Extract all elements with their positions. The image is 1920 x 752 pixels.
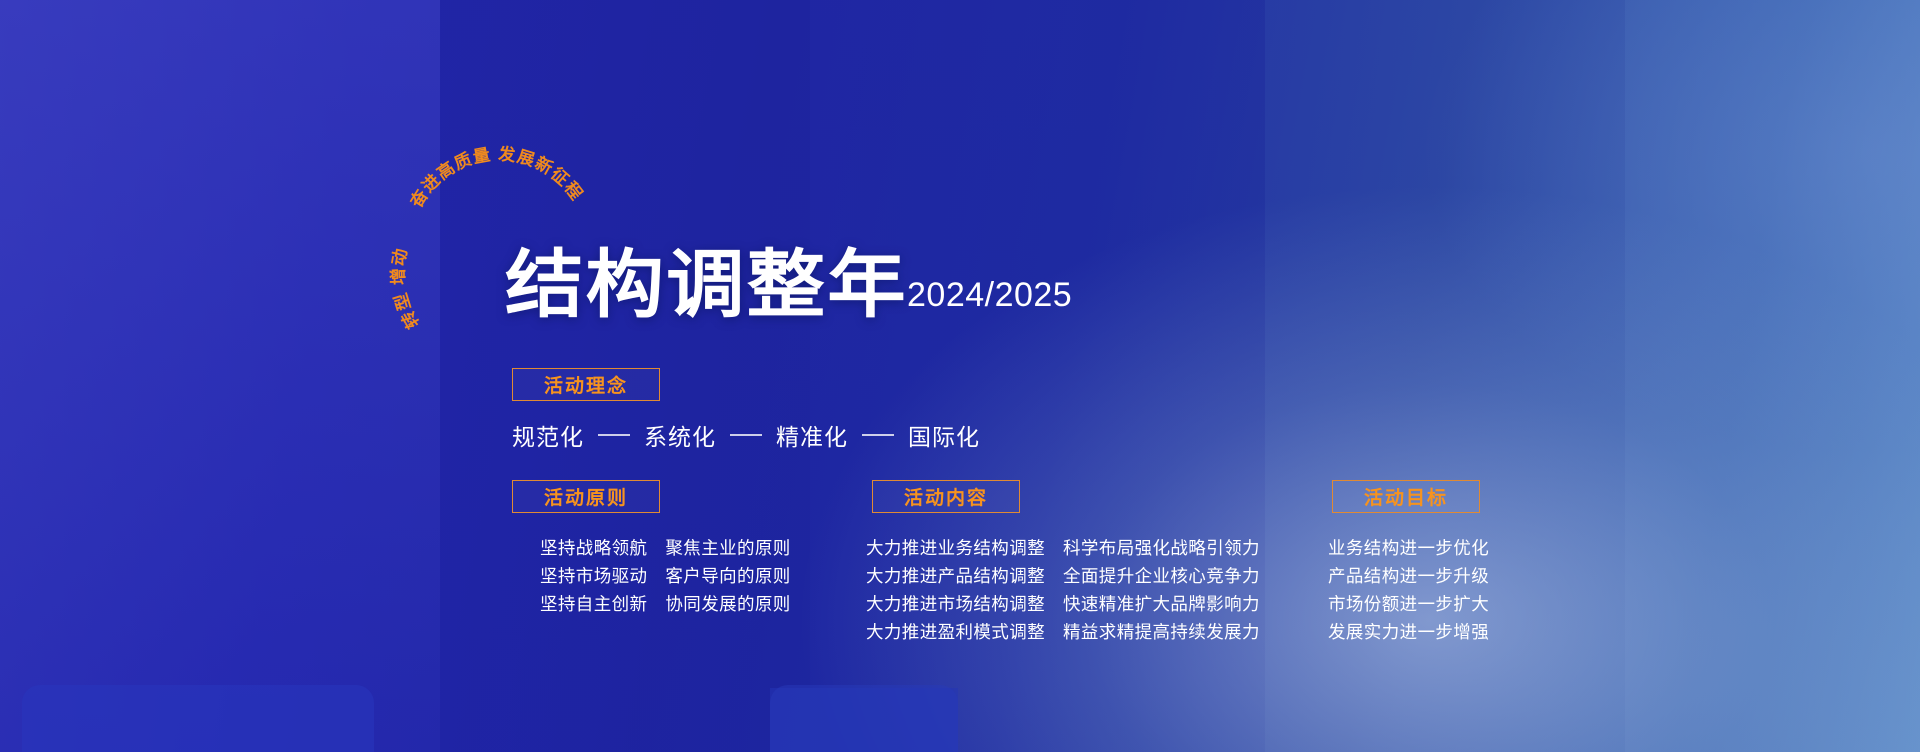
arc-text-left: 促转型 增动能	[385, 124, 423, 332]
list-item: 市场份额进一步扩大	[1328, 590, 1489, 618]
principle-row-2-a: 坚持自主创新	[540, 590, 647, 618]
decorative-rect-1	[22, 685, 374, 752]
concept-item-2: 精准化	[776, 418, 848, 452]
badge-activity-idea[interactable]: 活动理念	[512, 368, 660, 401]
content-row-3-a: 大力推进盈利模式调整	[866, 618, 1045, 646]
list-item: 大力推进市场结构调整 快速精准扩大品牌影响力	[866, 590, 1260, 618]
principle-row-1-a: 坚持市场驱动	[540, 562, 647, 590]
content-row-2-a: 大力推进市场结构调整	[866, 590, 1045, 618]
column-goal: 业务结构进一步优化 产品结构进一步升级 市场份额进一步扩大 发展实力进一步增强	[1328, 534, 1489, 646]
concept-item-1: 系统化	[644, 418, 716, 452]
content-row-0-a: 大力推进业务结构调整	[866, 534, 1045, 562]
goal-row-2-a: 市场份额进一步扩大	[1328, 590, 1489, 618]
badge-activity-goal[interactable]: 活动目标	[1332, 480, 1480, 513]
promo-banner: 奋进高质量 发展新征程 促转型 增动能 结构调整年 2024/2025 活动理念…	[0, 0, 1920, 752]
goal-row-0-a: 业务结构进一步优化	[1328, 534, 1489, 562]
goal-row-3-a: 发展实力进一步增强	[1328, 618, 1489, 646]
arc-text-top: 奋进高质量 发展新征程	[405, 143, 586, 211]
arc-text-top-path: 奋进高质量 发展新征程	[405, 143, 586, 211]
principle-row-0-a: 坚持战略领航	[540, 534, 647, 562]
content-row-3-b: 精益求精提高持续发展力	[1063, 618, 1260, 646]
content-row-1-b: 全面提升企业核心竞争力	[1063, 562, 1260, 590]
concept-separator-2	[862, 434, 894, 436]
content-row-2-b: 快速精准扩大品牌影响力	[1063, 590, 1260, 618]
decorative-bar	[770, 688, 958, 752]
page-title: 结构调整年	[505, 248, 908, 322]
background-stripe-1	[0, 0, 440, 752]
list-item: 坚持战略领航 聚焦主业的原则	[540, 534, 791, 562]
background-stripe-5	[1625, 0, 1920, 752]
concept-list: 规范化 系统化 精准化 国际化	[512, 418, 980, 452]
content-row-1-a: 大力推进产品结构调整	[866, 562, 1045, 590]
list-item: 坚持市场驱动 客户导向的原则	[540, 562, 791, 590]
goal-row-1-a: 产品结构进一步升级	[1328, 562, 1489, 590]
content-row-0-b: 科学布局强化战略引领力	[1063, 534, 1260, 562]
year-label: 2024/2025	[907, 276, 1072, 315]
concept-separator-0	[598, 434, 630, 436]
list-item: 大力推进产品结构调整 全面提升企业核心竞争力	[866, 562, 1260, 590]
principle-row-2-b: 协同发展的原则	[665, 590, 790, 618]
list-item: 发展实力进一步增强	[1328, 618, 1489, 646]
column-content: 大力推进业务结构调整 科学布局强化战略引领力 大力推进产品结构调整 全面提升企业…	[866, 534, 1260, 646]
concept-item-0: 规范化	[512, 418, 584, 452]
column-principle: 坚持战略领航 聚焦主业的原则 坚持市场驱动 客户导向的原则 坚持自主创新 协同发…	[540, 534, 791, 618]
title-row: 结构调整年 2024/2025	[505, 248, 1072, 322]
list-item: 产品结构进一步升级	[1328, 562, 1489, 590]
arc-text-left-path: 促转型 增动能	[385, 124, 423, 332]
principle-row-1-b: 客户导向的原则	[665, 562, 790, 590]
badge-activity-content[interactable]: 活动内容	[872, 480, 1020, 513]
concept-separator-1	[730, 434, 762, 436]
concept-item-3: 国际化	[908, 418, 980, 452]
list-item: 坚持自主创新 协同发展的原则	[540, 590, 791, 618]
badge-activity-principle[interactable]: 活动原则	[512, 480, 660, 513]
principle-row-0-b: 聚焦主业的原则	[665, 534, 790, 562]
list-item: 业务结构进一步优化	[1328, 534, 1489, 562]
list-item: 大力推进业务结构调整 科学布局强化战略引领力	[866, 534, 1260, 562]
list-item: 大力推进盈利模式调整 精益求精提高持续发展力	[866, 618, 1260, 646]
